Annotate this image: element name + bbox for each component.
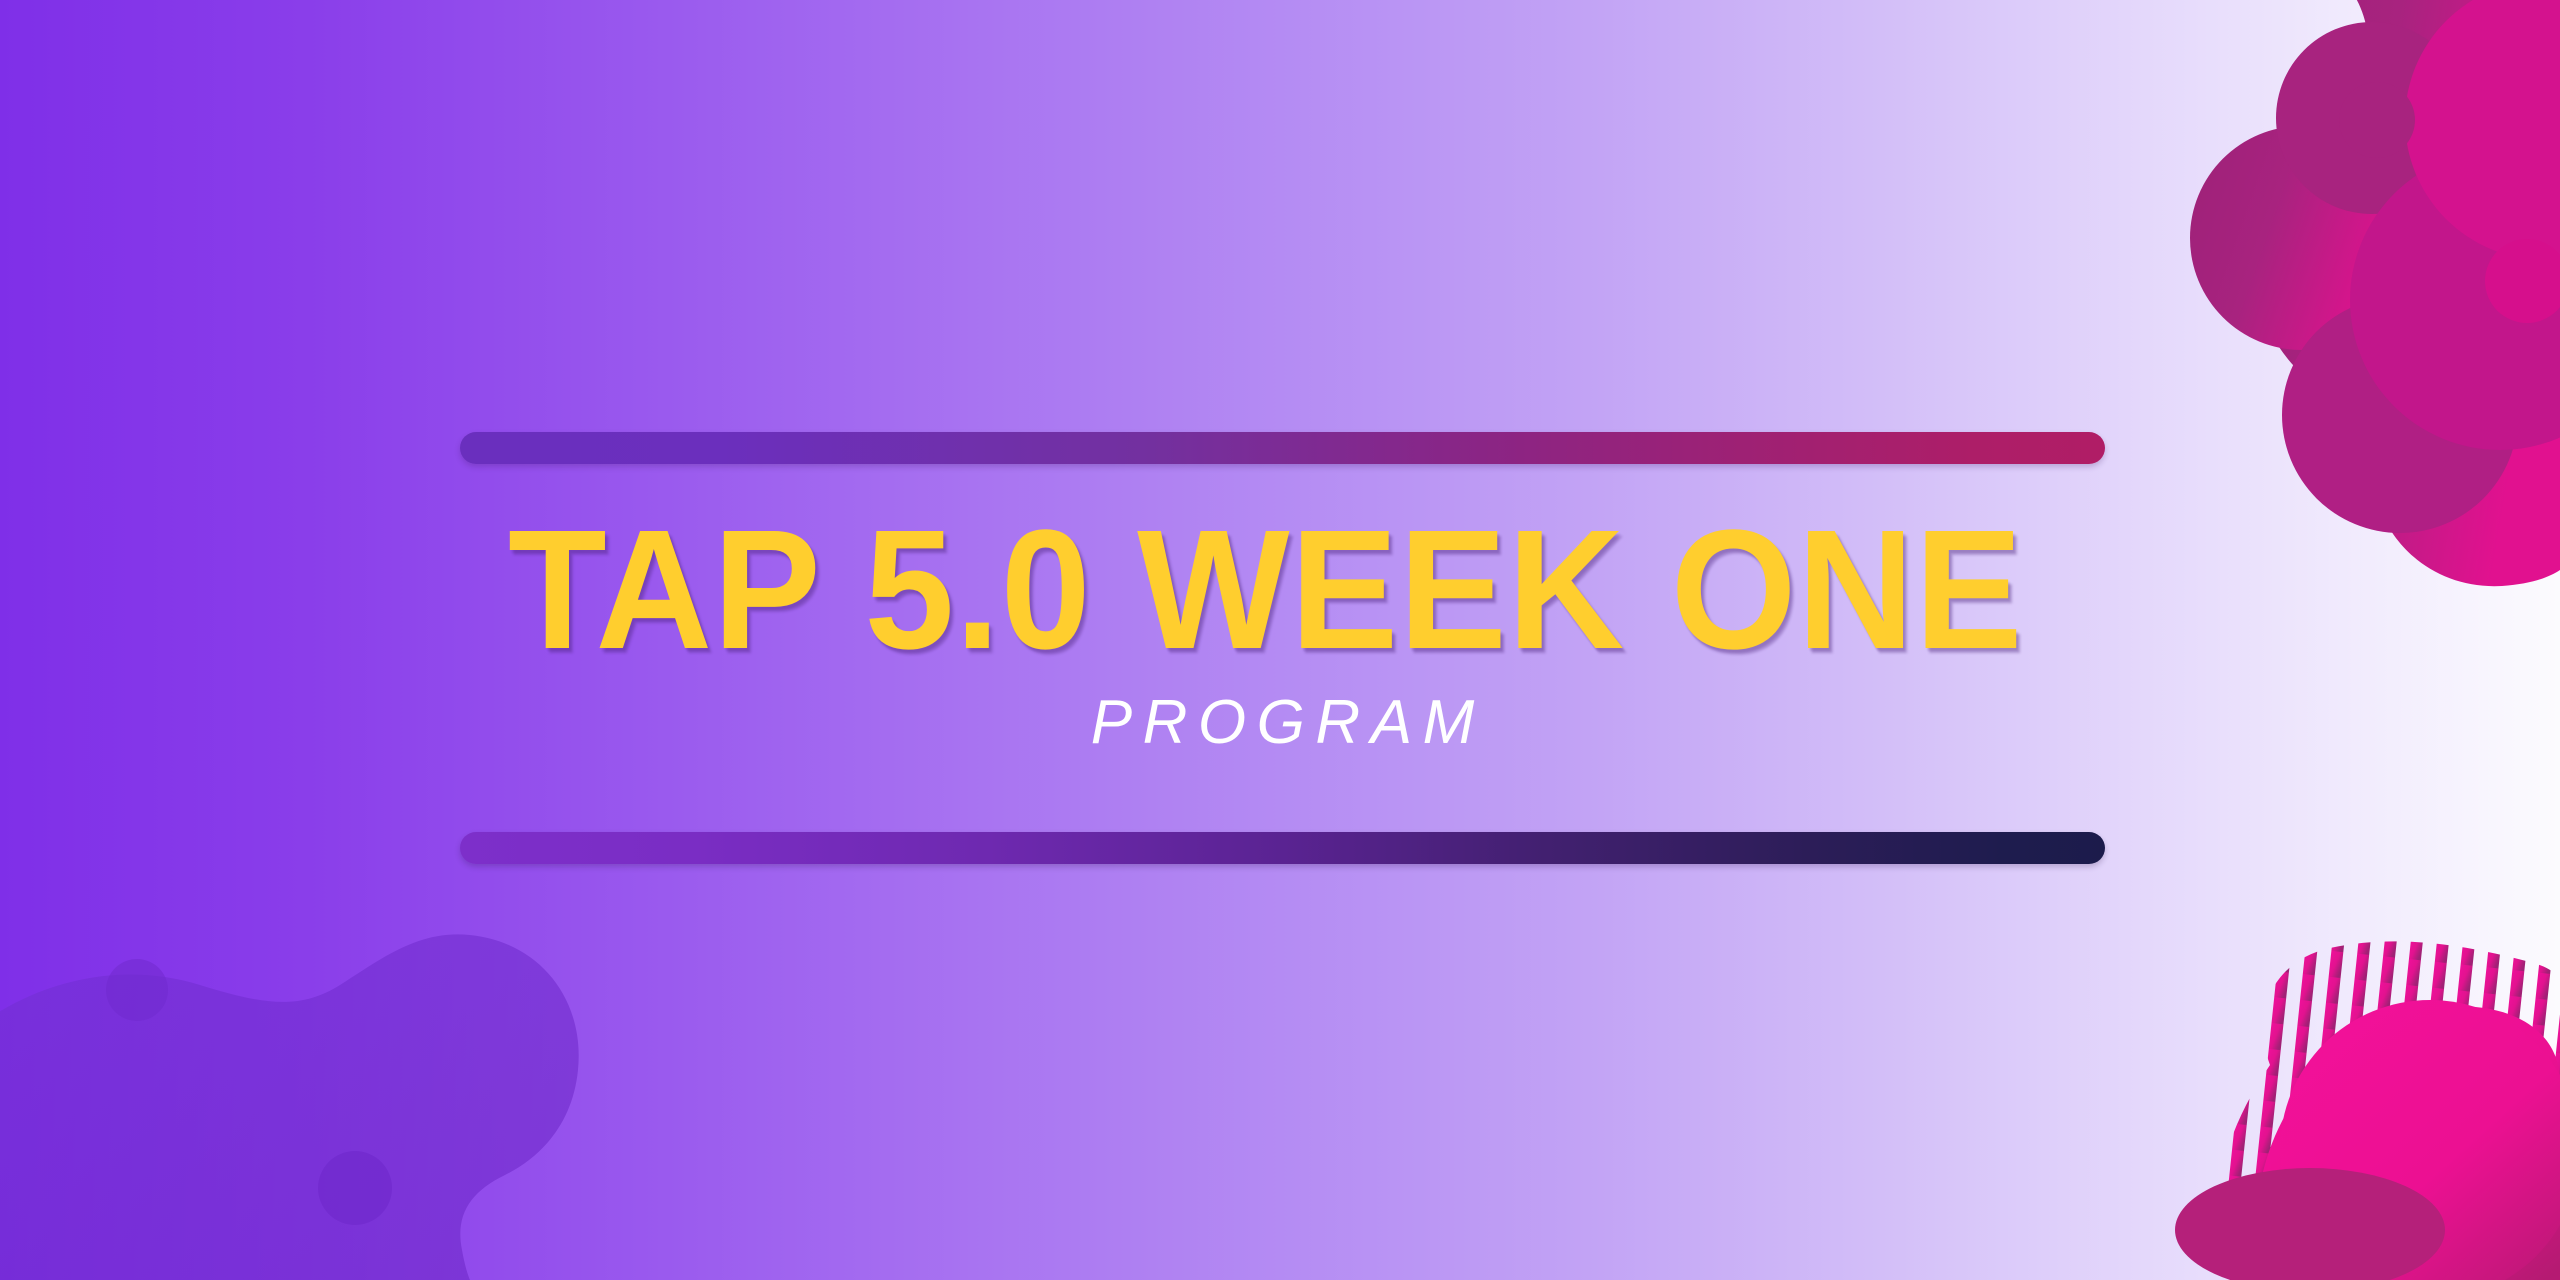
- top-divider-bar: [460, 432, 2105, 464]
- banner-canvas: TAP 5.0 WEEK ONE PROGRAM: [0, 0, 2560, 1280]
- top-right-magenta-blob: [2190, 0, 2560, 586]
- bottom-left-small-circle-lower: [318, 1151, 392, 1225]
- bottom-divider-bar: [460, 832, 2105, 864]
- page-subtitle: PROGRAM: [460, 690, 2105, 756]
- banner-content: TAP 5.0 WEEK ONE PROGRAM: [460, 0, 2105, 1280]
- top-right-accent-circle: [2485, 239, 2560, 323]
- page-title: TAP 5.0 WEEK ONE: [508, 506, 1991, 674]
- bottom-right-striped-blob: [2150, 930, 2560, 1280]
- top-right-small-circle: [2339, 82, 2415, 158]
- bottom-left-small-circle-upper: [106, 959, 168, 1021]
- bottom-right-solid-blob: [2175, 1000, 2560, 1280]
